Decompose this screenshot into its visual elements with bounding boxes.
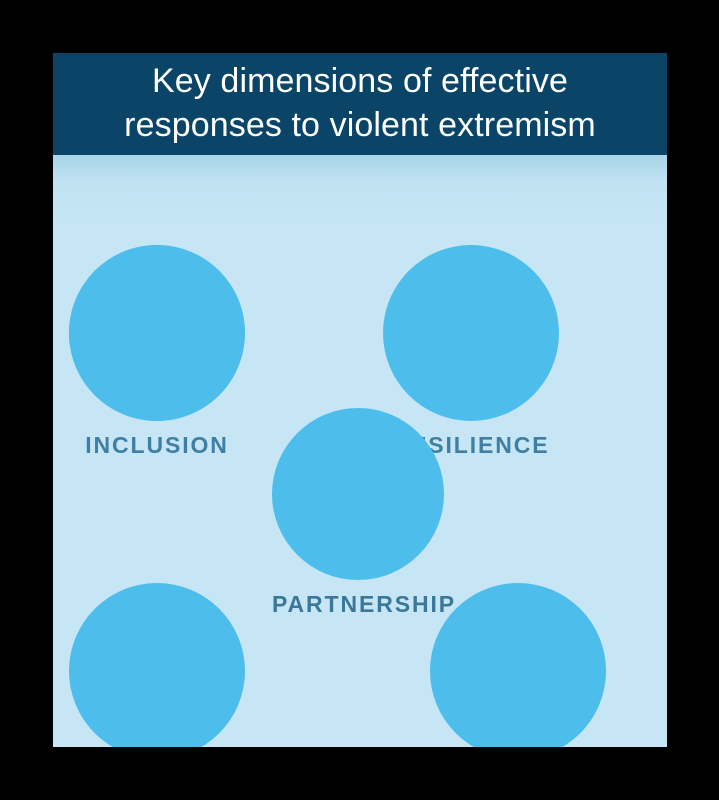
- infographic-header: Key dimensions of effective responses to…: [53, 53, 667, 155]
- page-title: Key dimensions of effective responses to…: [110, 60, 610, 147]
- procedures-circle: [69, 583, 245, 747]
- tile-wellbeing[interactable]: SAFETY & WELL-BEING: [383, 583, 653, 747]
- partnership-circle: [272, 408, 444, 580]
- tile-label-inclusion: INCLUSION: [69, 432, 245, 459]
- tile-inclusion[interactable]: INCLUSION: [69, 245, 245, 459]
- inclusion-circle: [69, 245, 245, 421]
- tile-procedures[interactable]: PROCEDURES: [69, 583, 245, 747]
- resilience-circle: [383, 245, 559, 421]
- infographic-panel: Key dimensions of effective responses to…: [53, 53, 667, 747]
- infographic-body: INCLUSION: [53, 155, 667, 747]
- wellbeing-circle: [430, 583, 606, 747]
